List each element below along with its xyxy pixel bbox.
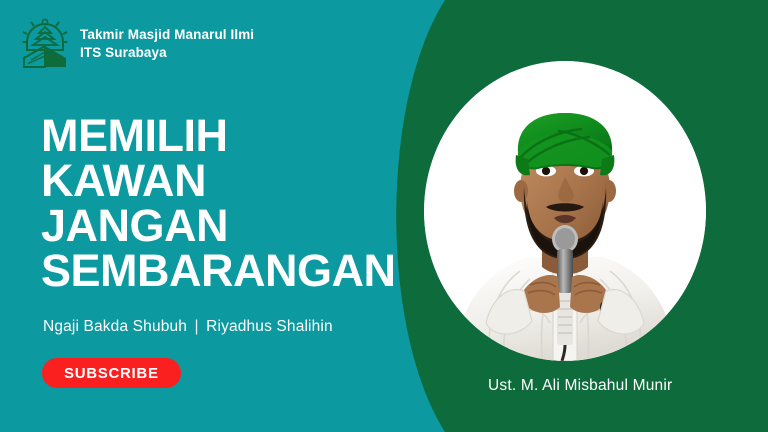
brand-name: Takmir Masjid Manarul Ilmi ITS Surabaya [80,26,254,62]
mosque-gear-logo-icon [22,18,68,70]
speaker-name: Ust. M. Ali Misbahul Munir [488,377,672,395]
headline-line-4: SEMBARANGAN [41,248,396,293]
subtitle: Ngaji Bakda Shubuh | Riyadhus Shalihin [43,318,333,336]
subtitle-program: Ngaji Bakda Shubuh [43,318,187,335]
subtitle-series: Riyadhus Shalihin [206,318,333,335]
brand-header: Takmir Masjid Manarul Ilmi ITS Surabaya [22,18,254,70]
headline-line-3: JANGAN [41,203,396,248]
speaker-photo-circle [424,61,706,361]
headline-line-1: MEMILIH [41,113,396,158]
subscribe-button[interactable]: SUBSCRIBE [42,358,181,388]
headline: MEMILIH KAWAN JANGAN SEMBARANGAN [41,113,396,293]
headline-line-2: KAWAN [41,158,396,203]
subtitle-separator: | [192,318,202,335]
speaker-portrait [424,61,706,361]
youtube-thumbnail-poster: Takmir Masjid Manarul Ilmi ITS Surabaya … [0,0,768,432]
